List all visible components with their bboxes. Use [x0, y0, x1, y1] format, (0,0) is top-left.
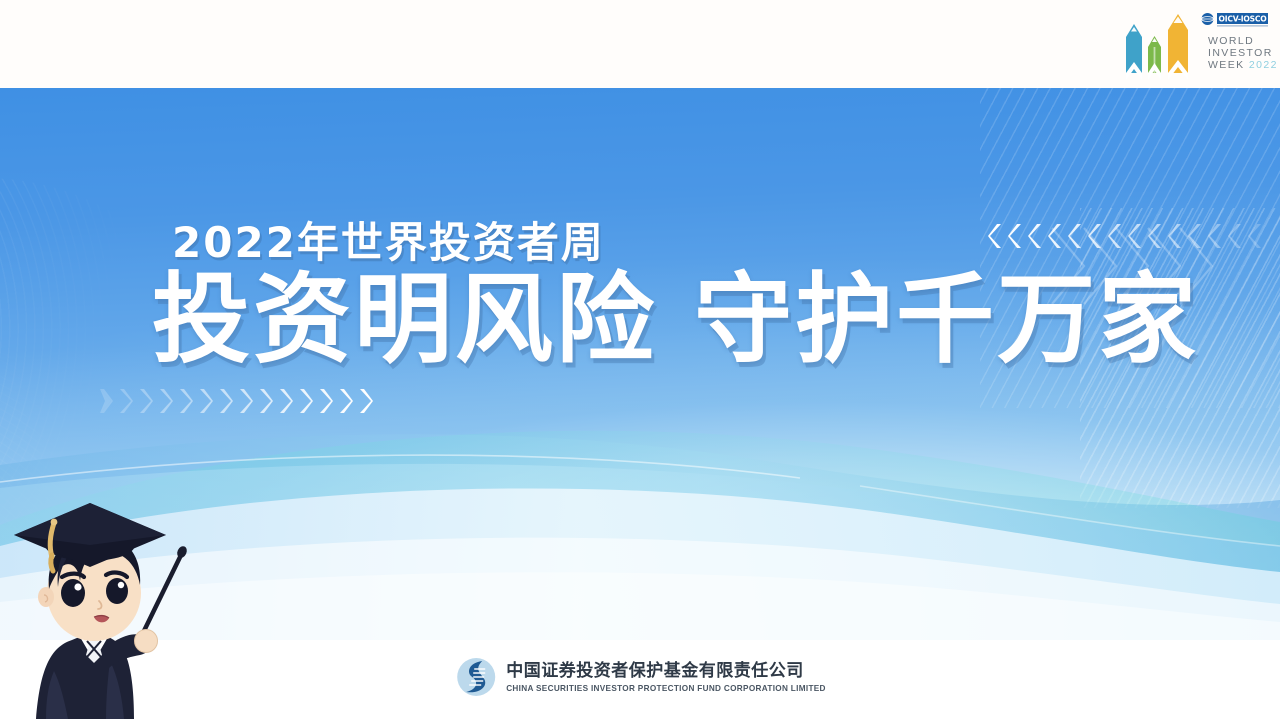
chevron-left-icon: [1088, 223, 1103, 249]
chevron-left-icon: [1188, 223, 1203, 249]
chevron-left-icon: [988, 223, 1003, 249]
mascot-gown: [36, 630, 158, 719]
chevron-right-icon: [318, 388, 333, 414]
chevron-right-icon: [238, 388, 253, 414]
pencils-icon: [1116, 12, 1206, 80]
sponsor-text: 中国证券投资者保护基金有限责任公司 CHINA SECURITIES INVES…: [506, 661, 826, 693]
chevron-right-icon: [198, 388, 213, 414]
wiw-year-text: 2022: [1249, 59, 1278, 71]
poster-headline: 投资明风险 守护千万家: [152, 269, 1199, 372]
graduation-cap-icon: [14, 503, 166, 571]
chevron-right-icon: [218, 388, 233, 414]
chevron-right-icon: [338, 388, 353, 414]
world-investor-week-logo: OICV-IOSCO WORLD INVESTOR WEEK 2022: [1104, 4, 1272, 84]
chevron-right-icon: [358, 388, 373, 414]
chevron-left-icon: [1208, 223, 1223, 249]
chevron-left-icon: [1028, 223, 1043, 249]
chevron-row-right: [98, 388, 373, 414]
poster-kicker: 2022年世界投资者周: [172, 209, 605, 270]
wiw-line-world: WORLD: [1208, 36, 1278, 48]
wiw-week-text: WEEK: [1208, 59, 1249, 71]
chevron-right-icon: [298, 388, 313, 414]
chevron-right-icon: [98, 388, 113, 414]
chevron-left-icon: [1008, 223, 1023, 249]
chevron-left-icon: [1168, 223, 1183, 249]
chevron-left-icon: [1068, 223, 1083, 249]
sponsor-logo: 中国证券投资者保护基金有限责任公司 CHINA SECURITIES INVES…: [454, 656, 826, 698]
mascot-professor: [0, 485, 199, 719]
wiw-line-week: WEEK 2022: [1208, 60, 1278, 72]
svg-text:OICV-IOSCO: OICV-IOSCO: [1218, 15, 1267, 24]
sponsor-name-cn: 中国证券投资者保护基金有限责任公司: [506, 661, 826, 682]
chevron-left-icon: [1128, 223, 1143, 249]
chevron-right-icon: [258, 388, 273, 414]
chevron-right-icon: [178, 388, 193, 414]
pointer-stick: [142, 545, 189, 635]
sponsor-name-en: CHINA SECURITIES INVESTOR PROTECTION FUN…: [506, 684, 826, 693]
chevron-left-icon: [1108, 223, 1123, 249]
chevron-left-icon: [1248, 223, 1263, 249]
chevron-row-left: [988, 223, 1263, 249]
chevron-left-icon: [1228, 223, 1243, 249]
header-band: OICV-IOSCO WORLD INVESTOR WEEK 2022: [0, 0, 1280, 88]
chevron-right-icon: [278, 388, 293, 414]
chevron-right-icon: [158, 388, 173, 414]
chevron-left-icon: [1048, 223, 1063, 249]
wiw-wordmark: WORLD INVESTOR WEEK 2022: [1208, 36, 1278, 71]
chevron-right-icon: [118, 388, 133, 414]
poster-slide: OICV-IOSCO WORLD INVESTOR WEEK 2022: [0, 0, 1280, 719]
spic-circle-icon: [454, 656, 498, 698]
chevron-right-icon: [138, 388, 153, 414]
chevron-left-icon: [1148, 223, 1163, 249]
oicv-iosco-icon: OICV-IOSCO: [1200, 12, 1268, 29]
